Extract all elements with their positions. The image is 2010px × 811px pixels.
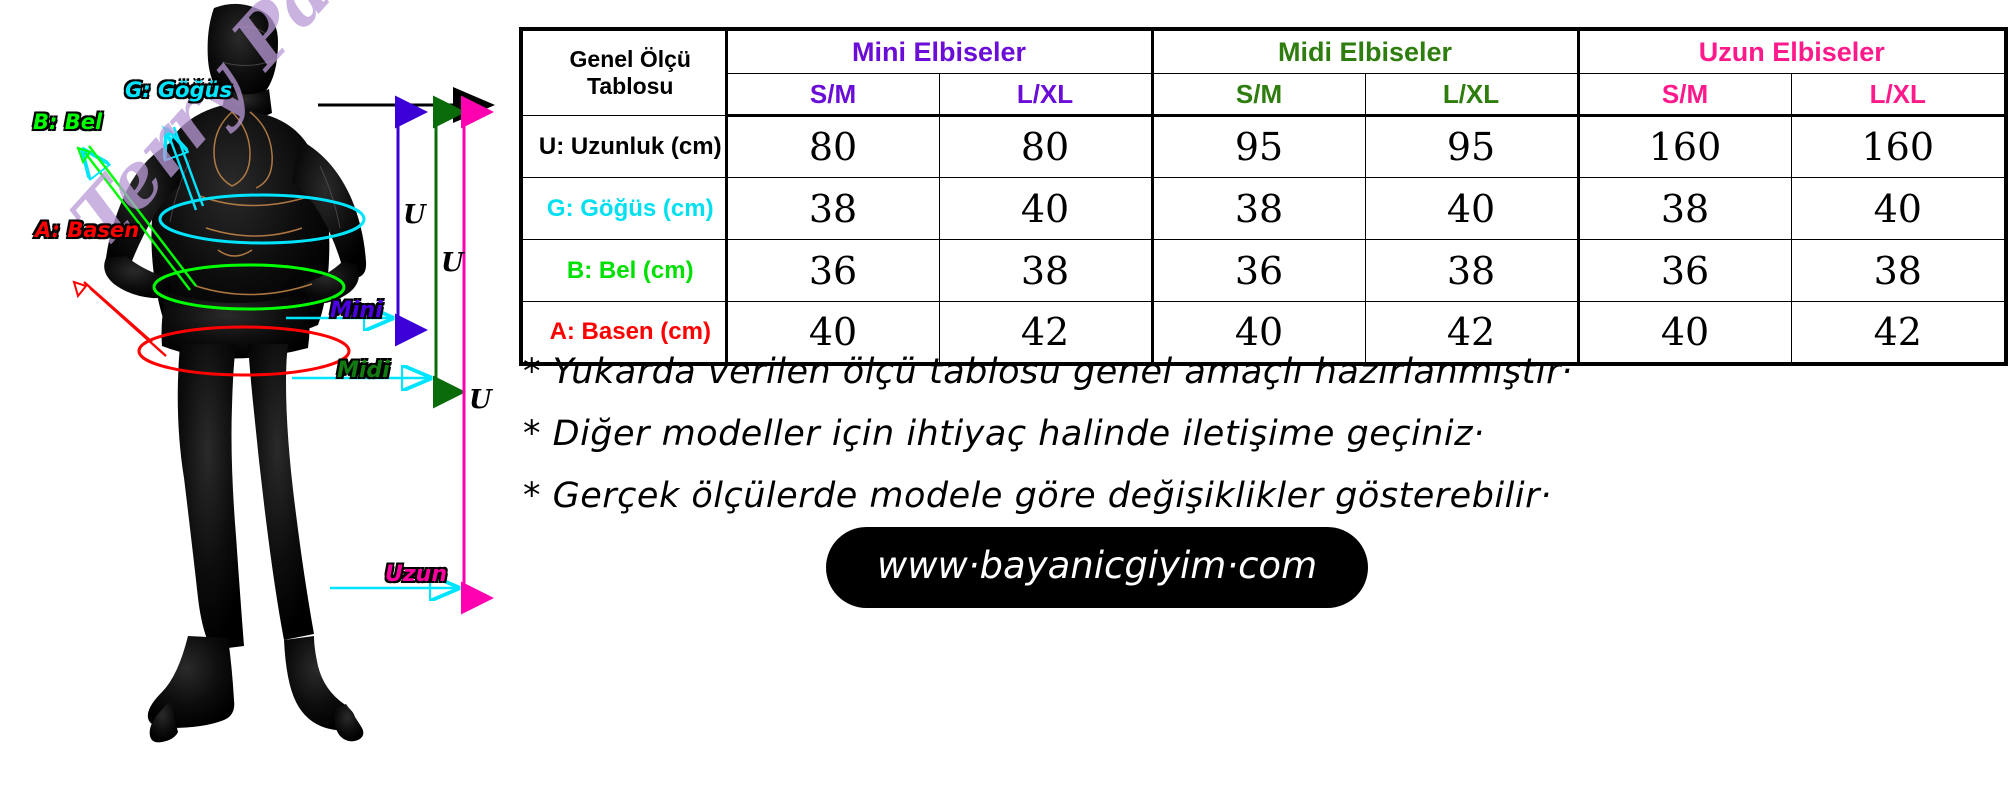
- table-row: B: Bel (cm) 36 38 36 38 36 38: [521, 240, 2006, 302]
- cell-bel-mini-sm: 36: [726, 240, 939, 302]
- label-basen: A: Basen: [35, 218, 139, 242]
- cell-bel-midi-lxl: 38: [1365, 240, 1578, 302]
- cell-uzunluk-mini-sm: 80: [726, 116, 939, 178]
- notes-list: * Yukarda verilen ölçü tablosu genel ama…: [523, 352, 2003, 538]
- website-banner[interactable]: www·bayanicgiyim·com: [833, 534, 1361, 601]
- label-uzun: Uzun: [385, 562, 447, 587]
- cell-gogus-midi-lxl: 40: [1365, 178, 1578, 240]
- size-header-midi-lxl: L/XL: [1365, 74, 1578, 116]
- model-illustration: Terry Paul U U U G: Göğüs B: Bel A: Base…: [0, 0, 515, 811]
- label-gogus: G: Göğüs: [125, 78, 232, 102]
- u-glyph-mini: U: [403, 200, 426, 230]
- u-glyph-midi: U: [441, 248, 464, 278]
- note-2: * Diğer modeller için ihtiyaç halinde il…: [523, 414, 2003, 454]
- cell-uzunluk-uzun-lxl: 160: [1791, 116, 2006, 178]
- cell-uzunluk-mini-lxl: 80: [939, 116, 1152, 178]
- cell-bel-uzun-sm: 36: [1578, 240, 1791, 302]
- cell-bel-uzun-lxl: 38: [1791, 240, 2006, 302]
- group-header-uzun: Uzun Elbiseler: [1578, 29, 2006, 74]
- table-header-group-row: Genel Ölçü Tablosu Mini Elbiseler Midi E…: [521, 29, 2006, 74]
- size-header-mini-lxl: L/XL: [939, 74, 1152, 116]
- cell-gogus-mini-sm: 38: [726, 178, 939, 240]
- size-header-uzun-sm: S/M: [1578, 74, 1791, 116]
- info-panel: Genel Ölçü Tablosu Mini Elbiseler Midi E…: [515, 0, 2010, 811]
- cell-gogus-uzun-sm: 38: [1578, 178, 1791, 240]
- note-3: * Gerçek ölçülerde modele göre değişikli…: [523, 476, 2003, 516]
- size-table: Genel Ölçü Tablosu Mini Elbiseler Midi E…: [519, 27, 2008, 366]
- size-header-mini-sm: S/M: [726, 74, 939, 116]
- row-label-gogus: G: Göğüs (cm): [521, 178, 726, 240]
- cell-gogus-uzun-lxl: 40: [1791, 178, 2006, 240]
- group-header-mini: Mini Elbiseler: [726, 29, 1152, 74]
- label-midi: Midi: [337, 358, 390, 383]
- label-mini: Mini: [330, 298, 383, 323]
- length-axes: [398, 112, 464, 598]
- size-header-uzun-lxl: L/XL: [1791, 74, 2006, 116]
- row-label-bel: B: Bel (cm): [521, 240, 726, 302]
- cell-bel-mini-lxl: 38: [939, 240, 1152, 302]
- size-chart-page: Terry Paul U U U G: Göğüs B: Bel A: Base…: [0, 0, 2010, 811]
- table-row: U: Uzunluk (cm) 80 80 95 95 160 160: [521, 116, 2006, 178]
- cell-gogus-mini-lxl: 40: [939, 178, 1152, 240]
- note-1: * Yukarda verilen ölçü tablosu genel ama…: [523, 352, 2003, 392]
- u-glyph-uzun: U: [469, 385, 492, 415]
- group-header-midi: Midi Elbiseler: [1152, 29, 1578, 74]
- table-row: G: Göğüs (cm) 38 40 38 40 38 40: [521, 178, 2006, 240]
- cell-uzunluk-midi-sm: 95: [1152, 116, 1365, 178]
- cell-uzunluk-midi-lxl: 95: [1365, 116, 1578, 178]
- cell-gogus-midi-sm: 38: [1152, 178, 1365, 240]
- row-label-uzunluk: U: Uzunluk (cm): [521, 116, 726, 178]
- cell-bel-midi-sm: 36: [1152, 240, 1365, 302]
- table-corner-label: Genel Ölçü Tablosu: [521, 29, 726, 116]
- cell-uzunluk-uzun-sm: 160: [1578, 116, 1791, 178]
- size-header-midi-sm: S/M: [1152, 74, 1365, 116]
- label-bel: B: Bel: [33, 110, 102, 134]
- table-header-size-row: S/M L/XL S/M L/XL S/M L/XL: [521, 74, 2006, 116]
